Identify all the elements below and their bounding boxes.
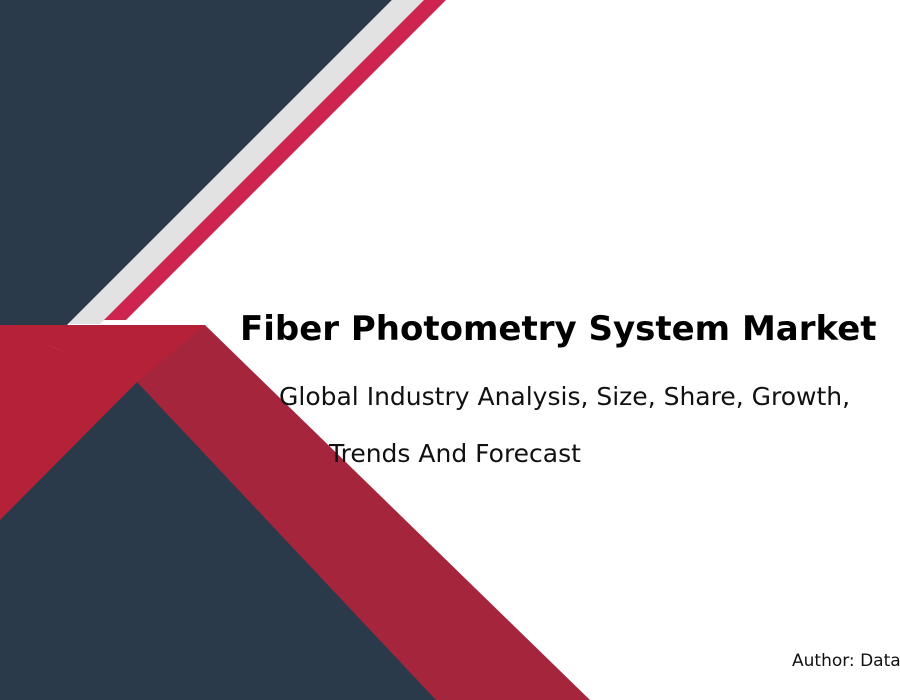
slide-text-layer: Fiber Photometry System Market Global In… (0, 0, 900, 700)
author-label: Author: Data (792, 651, 900, 671)
slide-subtitle: Global Industry Analysis, Size, Share, G… (279, 368, 900, 482)
title-slide: Fiber Photometry System Market Global In… (0, 0, 900, 700)
subtitle-line-2: Trends And Forecast (279, 425, 900, 482)
subtitle-line-1: Global Industry Analysis, Size, Share, G… (279, 368, 900, 425)
page-title: Fiber Photometry System Market (240, 306, 900, 352)
